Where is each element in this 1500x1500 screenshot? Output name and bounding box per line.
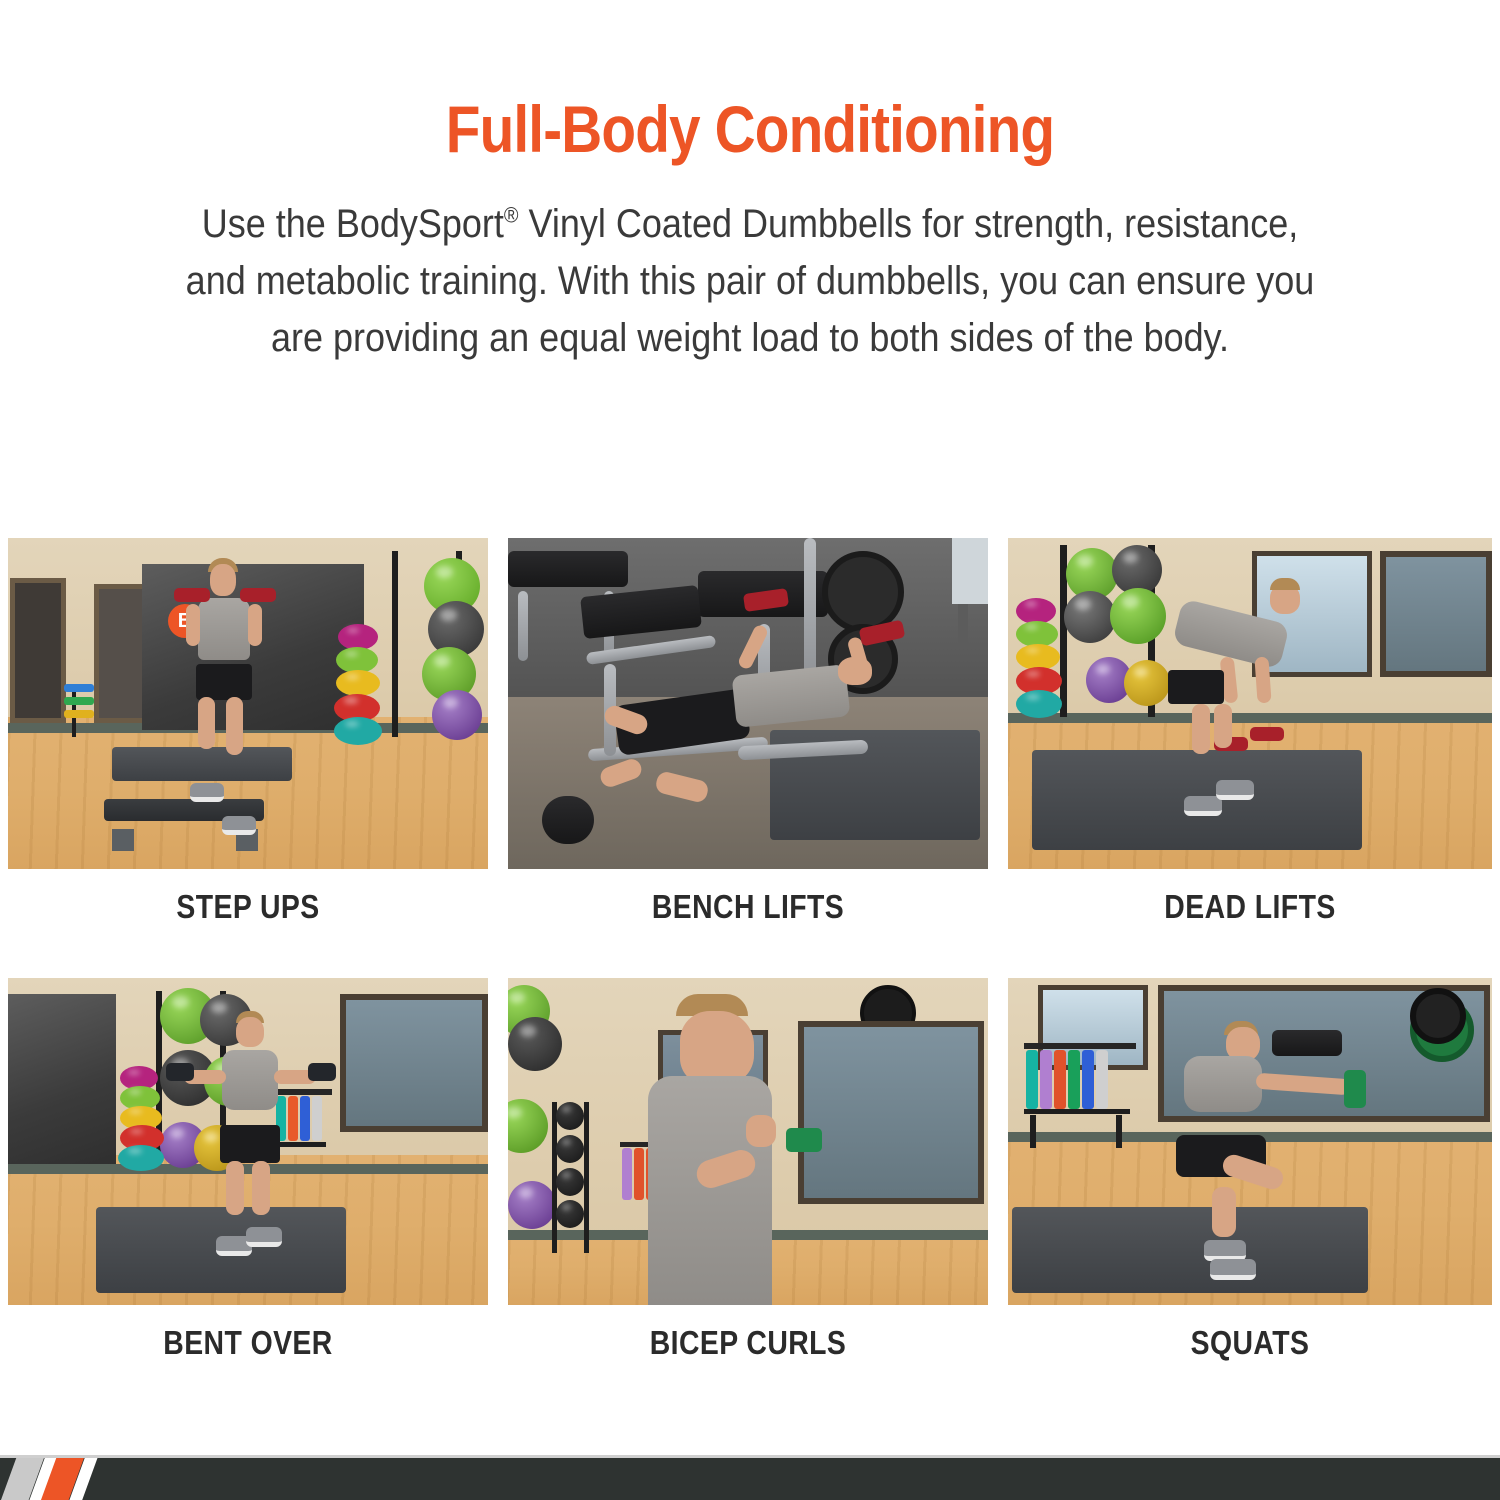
exercise-photo-bench-lifts (508, 538, 988, 869)
page-title: Full-Body Conditioning (105, 96, 1395, 162)
gym-scene (1008, 978, 1492, 1305)
intro-text-before: Use the BodySport (202, 202, 504, 246)
dumbbell-rack (1024, 1043, 1136, 1049)
exercise-photo-bicep-curls (508, 978, 988, 1305)
exercise-card-step-ups: B (8, 538, 488, 927)
gym-scene (8, 978, 488, 1305)
gym-scene (508, 538, 988, 869)
exercise-photo-bent-over (8, 978, 488, 1305)
registered-trademark-symbol: ® (504, 203, 519, 228)
intro-paragraph: Use the BodySport® Vinyl Coated Dumbbell… (170, 196, 1331, 366)
gym-scene (508, 978, 988, 1305)
exercise-caption: BICEP CURLS (542, 1323, 955, 1363)
dumbbell (174, 588, 210, 602)
footer-bar (0, 1458, 1500, 1500)
wall-mirror (1380, 551, 1492, 677)
dumbbell (786, 1128, 822, 1152)
exercise-photo-dead-lifts (1008, 538, 1492, 869)
exercise-caption: DEAD LIFTS (1042, 887, 1458, 927)
exercise-caption: SQUATS (1042, 1323, 1458, 1363)
exercise-card-bent-over: BENT OVER (8, 978, 488, 1363)
bodysport-banner (8, 994, 116, 1164)
header: Full-Body Conditioning Use the BodySport… (0, 0, 1500, 366)
dumbbell (240, 588, 276, 602)
exercise-caption: BENT OVER (42, 1323, 455, 1363)
exercise-card-bicep-curls: BICEP CURLS (508, 978, 988, 1363)
exercise-card-bench-lifts: BENCH LIFTS (508, 538, 988, 927)
exercise-photo-step-ups: B (8, 538, 488, 869)
dumbbell (1344, 1070, 1366, 1108)
dumbbell (1250, 727, 1284, 741)
wall-mirror (340, 994, 488, 1131)
wall-mirror (798, 1021, 984, 1204)
dumbbell (308, 1063, 336, 1081)
exercise-caption: STEP UPS (42, 887, 455, 927)
exercise-card-dead-lifts: DEAD LIFTS (1008, 538, 1492, 927)
exercise-grid-row-2: BENT OVER (8, 978, 1492, 1363)
exercise-photo-squats (1008, 978, 1492, 1305)
dumbbell-rack (276, 1089, 332, 1095)
exercise-card-squats: SQUATS (1008, 978, 1492, 1363)
dumbbell (166, 1063, 194, 1081)
exercise-mat (1012, 1207, 1368, 1293)
gym-scene (1008, 538, 1492, 869)
exercise-caption: BENCH LIFTS (542, 887, 955, 927)
gym-scene: B (8, 538, 488, 869)
exercise-grid-row-1: B (8, 538, 1492, 927)
